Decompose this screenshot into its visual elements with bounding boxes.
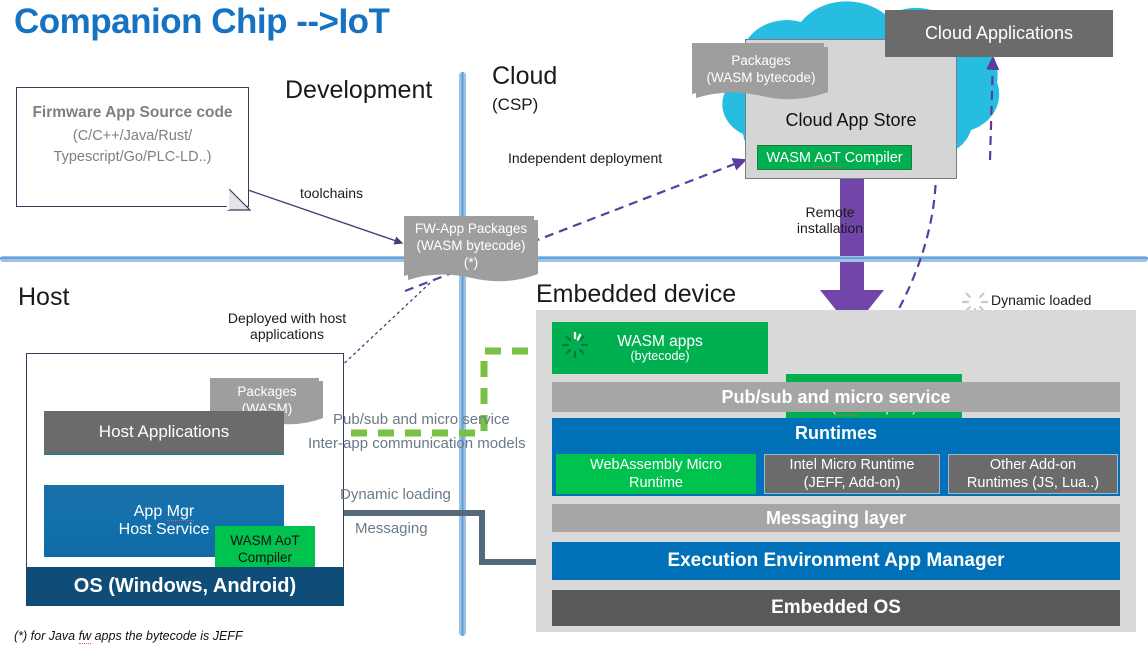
legend-label-dynamic-loaded: Dynamic loaded [991, 292, 1091, 308]
runtime-webassembly-micro: WebAssembly Micro Runtime [556, 454, 756, 494]
runtime-intel-micro: Intel Micro Runtime (JEFF, Add-on) [764, 454, 940, 494]
embedded-pubsub-layer: Pub/sub and micro service [552, 382, 1120, 412]
firmware-langs: (C/C++/Java/Rust/Typescript/Go/PLC-LD..) [17, 126, 248, 168]
host-os-box: OS (Windows, Android) [26, 567, 344, 606]
footnote: (*) for Java fw apps the bytecode is JEF… [14, 629, 243, 643]
app-mgr-label: App Mgr Host Service [119, 503, 210, 540]
device-to-cloud-arrow [887, 170, 936, 330]
cloud-app-store-title: Cloud App Store [746, 110, 956, 131]
divider-horizontal [0, 256, 1148, 262]
cloud-applications-box: Cloud Applications [885, 10, 1113, 57]
zone-label-host: Host [18, 283, 69, 312]
cloud-packages-label: Packages (WASM bytecode) [694, 52, 828, 86]
zone-label-cloud-sub: (CSP) [492, 95, 538, 115]
edge-label-pubsub-models-2: Inter-app communication models [308, 435, 526, 452]
zone-label-development: Development [285, 76, 432, 105]
app-sub: (bytecode) [617, 350, 703, 364]
firmware-title: Firmware App Source code [17, 104, 248, 122]
firmware-source-callout: Firmware App Source code (C/C++/Java/Rus… [16, 87, 249, 207]
edge-label-pubsub-models-1: Pub/sub and micro service [333, 411, 510, 428]
host-wasm-aot-compiler-box: WASM AoT Compiler [215, 526, 315, 572]
edge-label-independent-deployment: Independent deployment [508, 150, 662, 166]
edge-label-toolchains: toolchains [300, 185, 363, 201]
page-title: Companion Chip -->IoT [14, 2, 389, 42]
embedded-runtimes-title: Runtimes [552, 420, 1120, 446]
embedded-os: Embedded OS [552, 590, 1120, 626]
zone-label-cloud: Cloud [492, 62, 557, 91]
runtime-other-addon: Other Add-on Runtimes (JS, Lua..) [948, 454, 1118, 494]
remote-install-arrow [820, 168, 884, 330]
embedded-exec-env-app-manager: Execution Environment App Manager [552, 542, 1120, 580]
fw-app-packages-label: FW-App Packages (WASM bytecode) (*) [404, 220, 538, 271]
dynamic-loaded-icon [562, 332, 588, 358]
host-applications-box: Host Applications [44, 411, 284, 455]
slide-canvas: Companion Chip -->IoT Development Cloud … [0, 0, 1148, 653]
edge-label-deployed-with-host: Deployed with host applications [221, 310, 353, 342]
edge-label-dynamic-loading: Dynamic loading [340, 486, 451, 503]
cloud-aot-label: WASM AoT Compiler [766, 150, 902, 166]
embedded-app-wasm-bytecode: WASM apps (bytecode) [552, 322, 768, 374]
embedded-messaging-layer: Messaging layer [552, 504, 1120, 532]
edge-label-remote-installation: Remote installation [775, 204, 885, 236]
firmware-callout-tail [228, 188, 268, 218]
app-title: WASM apps [617, 333, 703, 350]
zone-label-embedded-device: Embedded device [536, 280, 736, 309]
edge-label-messaging: Messaging [355, 520, 428, 537]
cloud-wasm-aot-compiler-box: WASM AoT Compiler [757, 145, 912, 170]
